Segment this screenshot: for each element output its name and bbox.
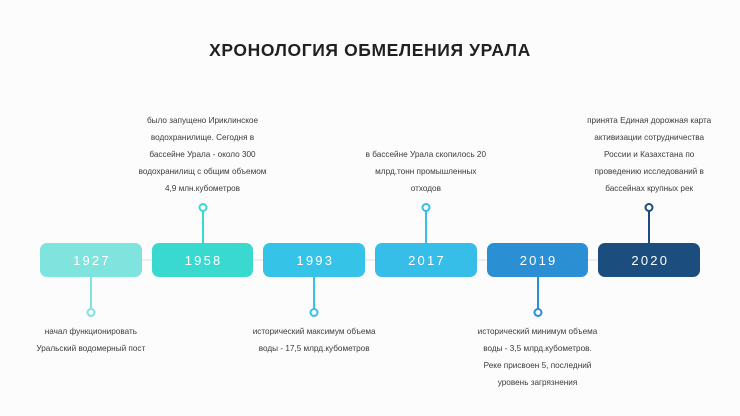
connector-line: [313, 277, 315, 315]
year-badge[interactable]: 2019: [487, 243, 589, 277]
timeline-step: 2020принята Единая дорожная карта активи…: [598, 243, 700, 277]
step-caption: было запущено Ириклинское водохранилище.…: [139, 112, 267, 197]
step-caption: принята Единая дорожная карта активизаци…: [585, 112, 713, 197]
timeline-step: 1927начал функционировать Уральский водо…: [40, 243, 142, 277]
timeline-step: 1993исторический максимум объема воды - …: [263, 243, 365, 277]
step-caption: начал функционировать Уральский водомерн…: [27, 323, 155, 357]
year-badge[interactable]: 2017: [375, 243, 477, 277]
connector-dot-icon: [533, 308, 542, 317]
connector-line: [425, 205, 427, 243]
timeline-step: 2019исторический минимум объема воды - 3…: [487, 243, 589, 277]
step-caption: в бассейне Урала скопилось 20 млрд.тонн …: [362, 146, 490, 197]
timeline-step: 2017в бассейне Урала скопилось 20 млрд.т…: [375, 243, 477, 277]
step-caption: исторический минимум объема воды - 3,5 м…: [474, 323, 602, 391]
connector-dot-icon: [310, 308, 319, 317]
connector-line: [202, 205, 204, 243]
connector-dot-icon: [421, 203, 430, 212]
year-badge[interactable]: 2020: [598, 243, 700, 277]
connector-line: [648, 205, 650, 243]
timeline: 1927начал функционировать Уральский водо…: [40, 243, 700, 277]
year-badge[interactable]: 1958: [152, 243, 254, 277]
connector-line: [90, 277, 92, 315]
year-badge[interactable]: 1927: [40, 243, 142, 277]
connector-dot-icon: [86, 308, 95, 317]
step-caption: исторический максимум объема воды - 17,5…: [250, 323, 378, 357]
connector-dot-icon: [198, 203, 207, 212]
year-badge[interactable]: 1993: [263, 243, 365, 277]
page-title: ХРОНОЛОГИЯ ОБМЕЛЕНИЯ УРАЛА: [0, 40, 740, 61]
infographic-canvas: ХРОНОЛОГИЯ ОБМЕЛЕНИЯ УРАЛА 1927начал фун…: [0, 0, 740, 416]
connector-dot-icon: [645, 203, 654, 212]
timeline-step: 1958было запущено Ириклинское водохранил…: [152, 243, 254, 277]
connector-line: [537, 277, 539, 315]
